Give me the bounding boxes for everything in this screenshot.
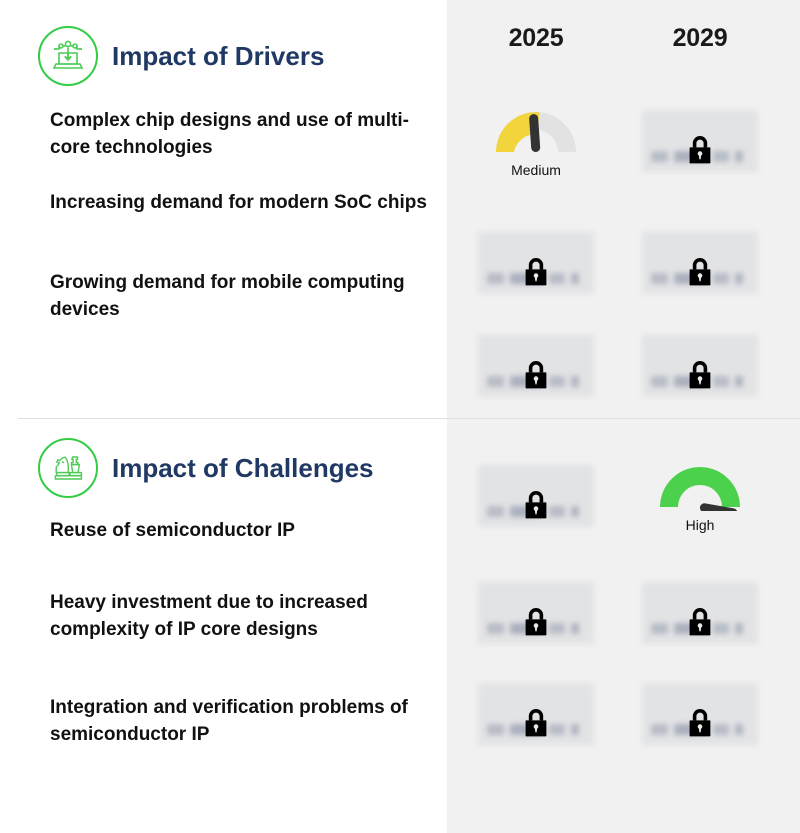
metric-challenges-2-2029[interactable]	[630, 572, 770, 658]
metric-challenges-1-2029[interactable]: High	[630, 455, 770, 541]
blurred-text-bar	[651, 724, 749, 735]
metric-drivers-2-2029[interactable]	[630, 222, 770, 308]
gauge-medium: Medium	[466, 100, 606, 178]
locked-tile	[642, 232, 758, 294]
section-header-challenges: Impact of Challenges	[38, 438, 374, 498]
gauge-arc-medium	[490, 106, 582, 156]
metric-challenges-1-2025[interactable]	[466, 455, 606, 541]
locked-tile	[478, 335, 594, 397]
metric-drivers-1-2025[interactable]: Medium	[466, 100, 606, 186]
metric-challenges-3-2029[interactable]	[630, 673, 770, 759]
metric-drivers-1-2029[interactable]	[630, 100, 770, 186]
locked-tile	[642, 582, 758, 644]
chess-pieces-icon	[38, 438, 98, 498]
gauge-label-high: High	[630, 517, 770, 533]
blurred-text-bar	[487, 623, 585, 634]
column-header-2025: 2025	[466, 24, 606, 53]
challenge-item-label-3: Integration and verification problems of…	[50, 695, 430, 749]
blurred-text-bar	[651, 376, 749, 387]
infographic-root: 2025 2029 Impact of Drivers Complex chip	[0, 0, 800, 833]
blurred-text-bar	[651, 273, 749, 284]
blurred-text-bar	[487, 724, 585, 735]
challenge-item-label-1: Reuse of semiconductor IP	[50, 518, 430, 545]
blurred-text-bar	[651, 151, 749, 162]
metric-drivers-2-2025[interactable]	[466, 222, 606, 308]
gauge-label-medium: Medium	[466, 162, 606, 178]
metric-drivers-3-2025[interactable]	[466, 325, 606, 411]
blurred-text-bar	[487, 376, 585, 387]
metric-challenges-2-2025[interactable]	[466, 572, 606, 658]
metric-challenges-3-2025[interactable]	[466, 673, 606, 759]
laptop-chip-download-icon	[38, 26, 98, 86]
driver-item-label-2: Increasing demand for modern SoC chips	[50, 190, 430, 217]
driver-item-label-1: Complex chip designs and use of multi-co…	[50, 108, 430, 162]
challenge-item-label-2: Heavy investment due to increased comple…	[50, 590, 430, 644]
section-title-drivers: Impact of Drivers	[112, 41, 324, 72]
driver-item-label-3: Growing demand for mobile computing devi…	[50, 270, 430, 324]
locked-tile	[478, 232, 594, 294]
locked-tile	[642, 335, 758, 397]
blurred-text-bar	[487, 273, 585, 284]
section-header-drivers: Impact of Drivers	[38, 26, 324, 86]
locked-tile	[642, 683, 758, 745]
metric-drivers-3-2029[interactable]	[630, 325, 770, 411]
blurred-text-bar	[651, 623, 749, 634]
locked-tile	[478, 465, 594, 527]
locked-tile	[642, 110, 758, 172]
column-header-2029: 2029	[630, 24, 770, 53]
blurred-text-bar	[487, 506, 585, 517]
gauge-high: High	[630, 455, 770, 533]
locked-tile	[478, 582, 594, 644]
locked-tile	[478, 683, 594, 745]
section-divider	[18, 418, 800, 419]
section-title-challenges: Impact of Challenges	[112, 453, 374, 484]
gauge-arc-high	[654, 461, 746, 511]
